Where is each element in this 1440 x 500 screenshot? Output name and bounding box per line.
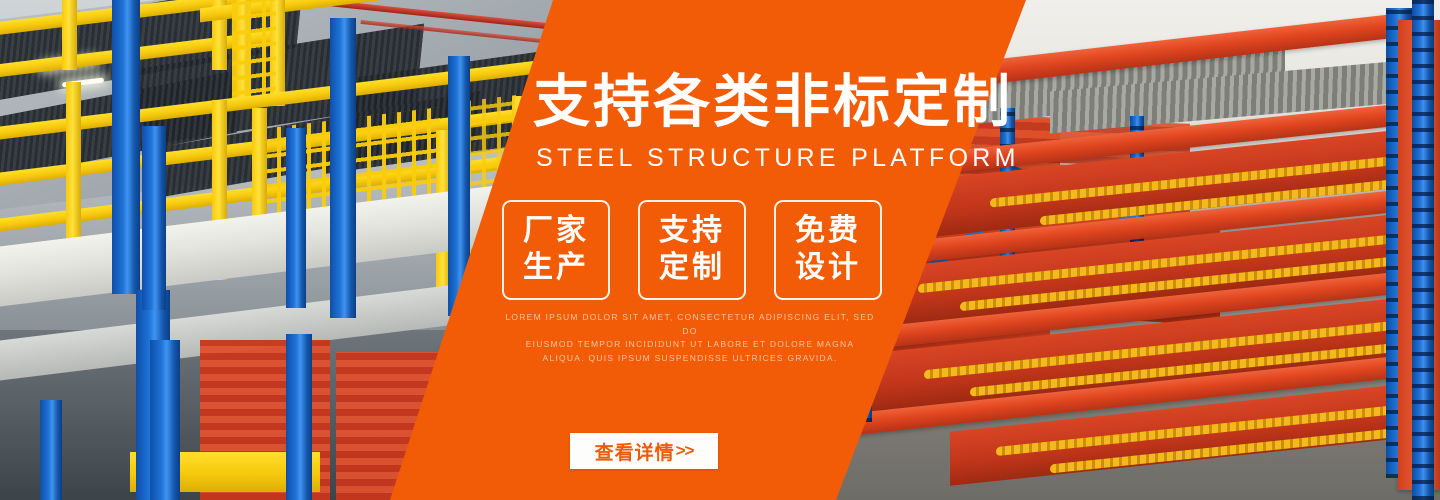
- view-details-button[interactable]: 查看详情 >>: [570, 433, 718, 469]
- page-title: 支持各类非标定制: [533, 74, 1013, 131]
- badge-line-1: 免费: [795, 213, 861, 250]
- badge-manufacturer: 厂家 生产: [502, 200, 610, 300]
- badge-free-design: 免费 设计: [774, 200, 882, 300]
- badge-customization: 支持 定制: [638, 200, 746, 300]
- body-copy: LOREM IPSUM DOLOR SIT AMET, CONSECTETUR …: [500, 311, 880, 365]
- chevron-right-icon: >>: [676, 441, 694, 461]
- body-copy-line: ALIQUA. QUIS IPSUM SUSPENDISSE ULTRICES …: [500, 352, 880, 366]
- view-details-label: 查看详情: [595, 438, 675, 465]
- promo-banner: 支持各类非标定制 STEEL STRUCTURE PLATFORM 厂家 生产 …: [0, 0, 1440, 500]
- subtitle: STEEL STRUCTURE PLATFORM: [536, 144, 1020, 173]
- badge-line-1: 支持: [659, 213, 725, 250]
- body-copy-line: LOREM IPSUM DOLOR SIT AMET, CONSECTETUR …: [500, 311, 880, 338]
- badge-line-2: 设计: [795, 250, 861, 287]
- badge-line-2: 生产: [523, 250, 589, 287]
- body-copy-line: EIUSMOD TEMPOR INCIDIDUNT UT LABORE ET D…: [500, 338, 880, 352]
- banner-content: 支持各类非标定制 STEEL STRUCTURE PLATFORM 厂家 生产 …: [0, 0, 1440, 500]
- feature-badges: 厂家 生产 支持 定制 免费 设计: [502, 200, 882, 300]
- badge-line-2: 定制: [659, 250, 725, 287]
- badge-line-1: 厂家: [523, 213, 589, 250]
